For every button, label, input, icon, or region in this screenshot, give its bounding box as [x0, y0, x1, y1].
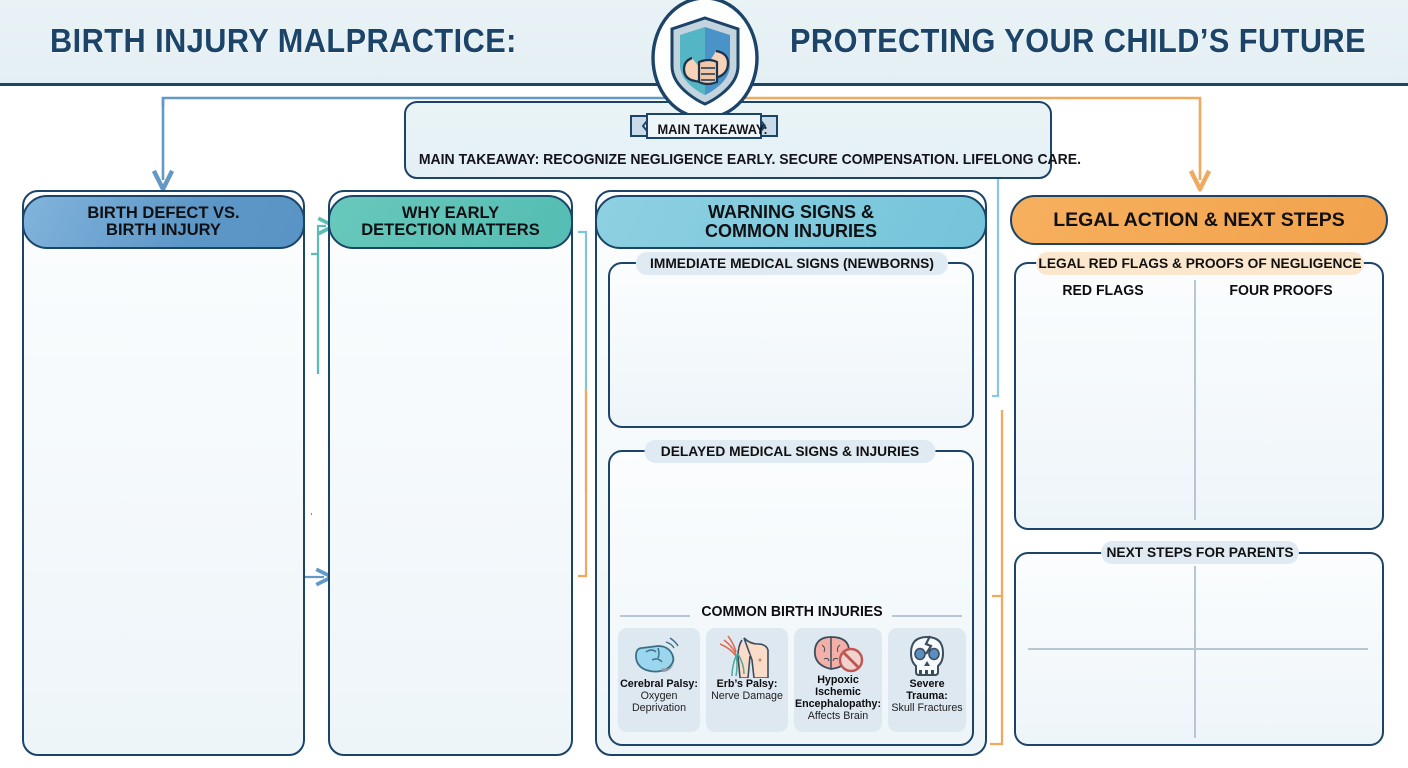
page-title-left: BIRTH INJURY MALPRACTICE: — [50, 22, 517, 60]
column-1-header-label: BIRTH DEFECT VS. BIRTH INJURY — [87, 205, 239, 240]
column-birth-defect-vs-injury — [22, 190, 305, 756]
panel-delayed-signs-title: DELAYED MEDICAL SIGNS & INJURIES — [645, 440, 936, 463]
injury-tile-label: Cerebral Palsy: — [618, 678, 700, 690]
common-birth-injuries-subhead: COMMON BIRTH INJURIES — [693, 604, 891, 620]
injury-tile-label: Hypoxic Ischemic Encephalopathy: — [794, 674, 882, 710]
injury-tile-label: Severe Trauma: — [888, 678, 966, 702]
four-proofs-subhead: FOUR PROOFS — [1208, 283, 1354, 299]
divider — [620, 615, 690, 617]
divider — [1028, 648, 1368, 650]
column-3-header-label: WARNING SIGNS & COMMON INJURIES — [705, 203, 877, 241]
injury-tile: Cerebral Palsy: Oxygen Deprivation — [618, 628, 700, 732]
column-1-header: BIRTH DEFECT VS. BIRTH INJURY — [22, 195, 305, 249]
injury-tile: Hypoxic Ischemic Encephalopathy: Affects… — [794, 628, 882, 732]
injury-tile-label: Erb’s Palsy: — [706, 678, 788, 690]
injury-tile-sub: Affects Brain — [794, 710, 882, 722]
column-3-header: WARNING SIGNS & COMMON INJURIES — [595, 195, 987, 249]
pink-brain-blocked-icon — [794, 632, 882, 674]
panel-immediate-signs — [608, 262, 974, 428]
column-4-header-label: LEGAL ACTION & NEXT STEPS — [1053, 210, 1344, 230]
ribbon-label: MAIN TAKEAWAY: — [658, 118, 753, 141]
divider — [1194, 566, 1196, 738]
injury-tile-sub: Oxygen Deprivation — [618, 690, 700, 714]
column-4-header: LEGAL ACTION & NEXT STEPS — [1010, 195, 1388, 245]
divider — [1194, 280, 1196, 520]
nerve-shoulder-arm-icon — [706, 632, 788, 678]
column-2-header-label: WHY EARLY DETECTION MATTERS — [361, 205, 539, 240]
panel-next-steps-title: NEXT STEPS FOR PARENTS — [1101, 541, 1299, 564]
divider — [892, 615, 962, 617]
column-2-header: WHY EARLY DETECTION MATTERS — [328, 195, 573, 249]
injury-tile: Erb’s Palsy: Nerve Damage — [706, 628, 788, 732]
blue-brain-icon — [618, 632, 700, 678]
injury-tile: Severe Trauma: Skull Fractures — [888, 628, 966, 732]
injury-tile-sub: Nerve Damage — [706, 690, 788, 702]
shield-handshake-icon — [646, 0, 764, 124]
red-flags-subhead: RED FLAGS — [1030, 283, 1176, 299]
panel-legal-red-flags-title: LEGAL RED FLAGS & PROOFS OF NEGLIGENCE — [1036, 252, 1364, 275]
main-takeaway-text: MAIN TAKEAWAY: RECOGNIZE NEGLIGENCE EARL… — [419, 152, 1037, 168]
panel-immediate-signs-title: IMMEDIATE MEDICAL SIGNS (NEWBORNS) — [636, 252, 948, 275]
panel-legal-red-flags — [1014, 262, 1384, 530]
page-title-right: PROTECTING YOUR CHILD’S FUTURE — [790, 22, 1366, 60]
cracked-skull-icon — [888, 632, 966, 678]
injury-tile-sub: Skull Fractures — [888, 702, 966, 714]
column-why-early-detection — [328, 190, 573, 756]
